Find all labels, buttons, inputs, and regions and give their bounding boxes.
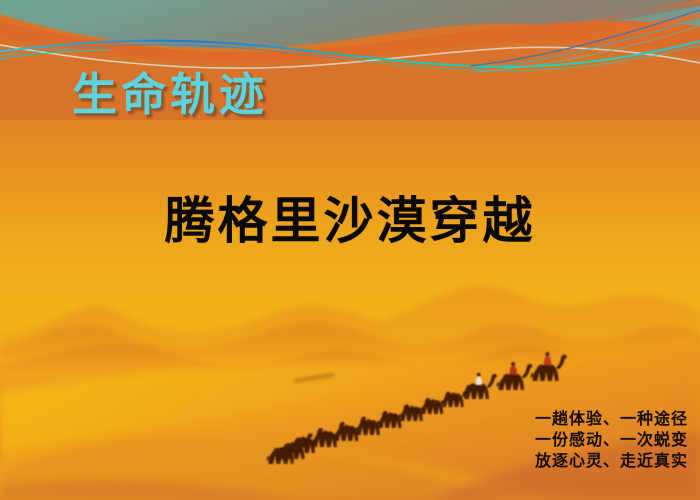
tagline-line-3: 放逐心灵、走近真实 <box>535 450 692 471</box>
tagline-line-1: 一趟体验、一种途径 <box>535 408 692 429</box>
slide-heading: 生命轨迹 <box>72 72 268 117</box>
tagline-line-2: 一份感动、一次蜕变 <box>535 429 692 450</box>
distant-camel-caravan <box>294 372 334 383</box>
presentation-slide: 生命轨迹 腾格里沙漠穿越 一趟体验、一种途径 一份感动、一次蜕变 放逐心灵、走近… <box>0 0 700 500</box>
page-title: 腾格里沙漠穿越 <box>0 195 700 248</box>
tagline-block: 一趟体验、一种途径 一份感动、一次蜕变 放逐心灵、走近真实 <box>535 408 692 471</box>
